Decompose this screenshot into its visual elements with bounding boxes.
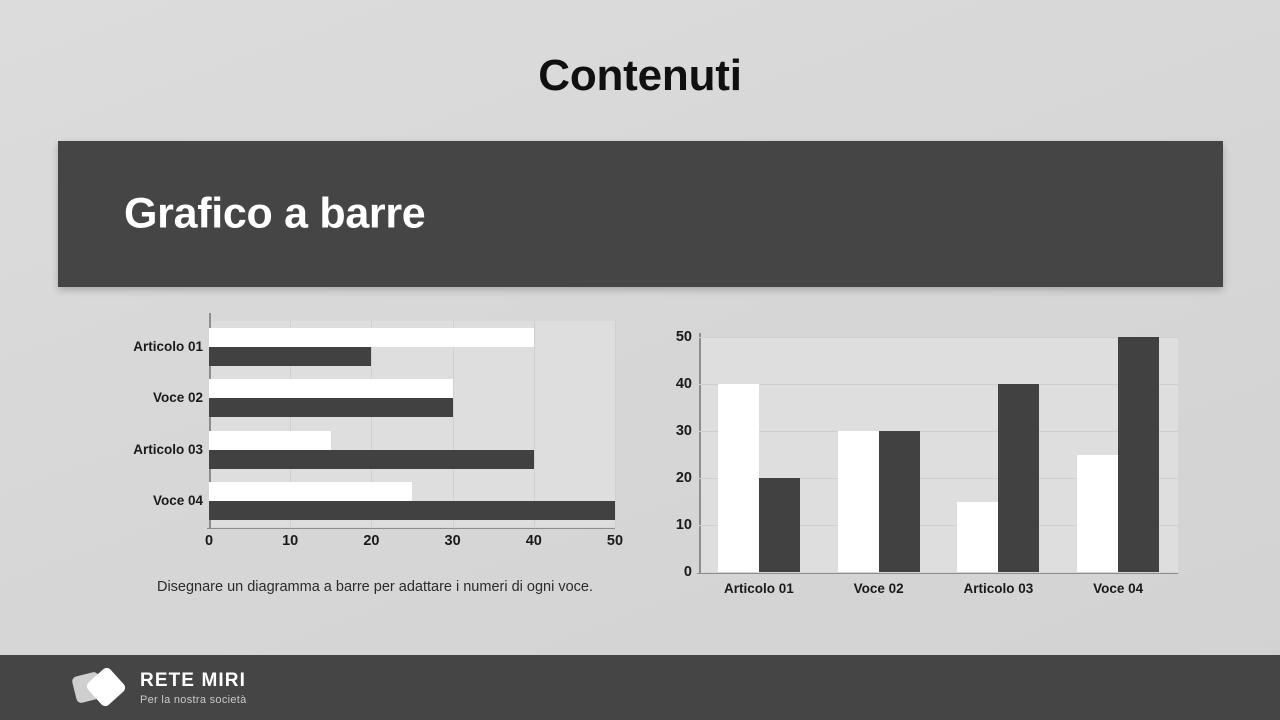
brand-tagline: Per la nostra società: [140, 694, 247, 707]
horizontal-chart-bar: [209, 398, 453, 417]
vertical-chart-y-tick-label: 20: [676, 470, 692, 486]
vertical-chart-category-label: Articolo 01: [724, 581, 794, 596]
section-heading: Grafico a barre: [124, 190, 425, 239]
vertical-chart-y-tick-label: 30: [676, 423, 692, 439]
vertical-chart-y-tick-label: 0: [684, 564, 692, 580]
horizontal-chart-bar: [209, 347, 371, 366]
horizontal-chart-category-label: Articolo 03: [133, 442, 203, 457]
vertical-chart-x-axis-line: [697, 573, 1178, 575]
vertical-chart-bar: [879, 431, 920, 572]
page-title: Contenuti: [0, 52, 1280, 100]
vertical-chart-bar: [1077, 455, 1118, 573]
vertical-chart-y-axis-line: [699, 333, 701, 574]
horizontal-chart-group: Articolo 03: [209, 424, 615, 476]
section-banner: Grafico a barre: [58, 141, 1223, 287]
horizontal-bar-chart: Articolo 01Voce 02Articolo 03Voce 04 010…: [110, 313, 640, 553]
vertical-chart-bar: [1118, 337, 1159, 572]
vertical-bar-chart: 01020304050Articolo 01Voce 02Articolo 03…: [655, 328, 1195, 603]
horizontal-chart-x-tick-label: 30: [445, 533, 461, 549]
vertical-chart-gridline: [699, 431, 1178, 432]
vertical-chart-bar: [838, 431, 879, 572]
horizontal-chart-category-label: Voce 02: [153, 390, 203, 405]
brand-logo: RETE MIRI Per la nostra società: [74, 668, 247, 708]
horizontal-chart-group: Voce 04: [209, 476, 615, 528]
vertical-chart-category-label: Voce 04: [1093, 581, 1143, 596]
horizontal-chart-caption: Disegnare un diagramma a barre per adatt…: [110, 578, 640, 597]
vertical-chart-gridline: [699, 384, 1178, 385]
vertical-chart-y-tick-label: 50: [676, 329, 692, 345]
horizontal-chart-bar: [209, 501, 615, 520]
vertical-chart-category-label: Articolo 03: [963, 581, 1033, 596]
vertical-chart-y-tick-label: 40: [676, 376, 692, 392]
slide-canvas: Contenuti Grafico a barre Articolo 01Voc…: [0, 0, 1280, 720]
footer-bar: RETE MIRI Per la nostra società: [0, 655, 1280, 720]
vertical-chart-plot-area: 01020304050Articolo 01Voce 02Articolo 03…: [699, 337, 1178, 572]
horizontal-chart-gridline: [615, 321, 616, 527]
vertical-chart-bar: [759, 478, 800, 572]
horizontal-chart-x-tick-label: 20: [363, 533, 379, 549]
horizontal-chart-x-axis-line: [207, 528, 615, 530]
horizontal-chart-plot-area: Articolo 01Voce 02Articolo 03Voce 04: [209, 321, 615, 527]
vertical-chart-bar: [718, 384, 759, 572]
horizontal-chart-x-tick-label: 0: [205, 533, 213, 549]
horizontal-chart-bar: [209, 450, 534, 469]
vertical-chart-gridline: [699, 337, 1178, 338]
horizontal-chart-x-tick-label: 40: [526, 533, 542, 549]
horizontal-chart-x-tick-label: 50: [607, 533, 623, 549]
vertical-chart-bar: [998, 384, 1039, 572]
horizontal-chart-x-tick-label: 10: [282, 533, 298, 549]
horizontal-chart-group: Voce 02: [209, 373, 615, 425]
horizontal-chart-group: Articolo 01: [209, 321, 615, 373]
vertical-chart-bar: [957, 502, 998, 573]
horizontal-chart-bar: [209, 379, 453, 398]
horizontal-chart-bar: [209, 328, 534, 347]
horizontal-chart-bar: [209, 431, 331, 450]
brand-text: RETE MIRI Per la nostra società: [140, 670, 247, 706]
horizontal-chart-category-label: Articolo 01: [133, 339, 203, 354]
horizontal-chart-bar: [209, 482, 412, 501]
diamond-squares-icon: [74, 668, 130, 708]
vertical-chart-category-label: Voce 02: [854, 581, 904, 596]
horizontal-chart-category-label: Voce 04: [153, 493, 203, 508]
vertical-chart-y-tick-label: 10: [676, 517, 692, 533]
brand-name: RETE MIRI: [140, 670, 247, 692]
